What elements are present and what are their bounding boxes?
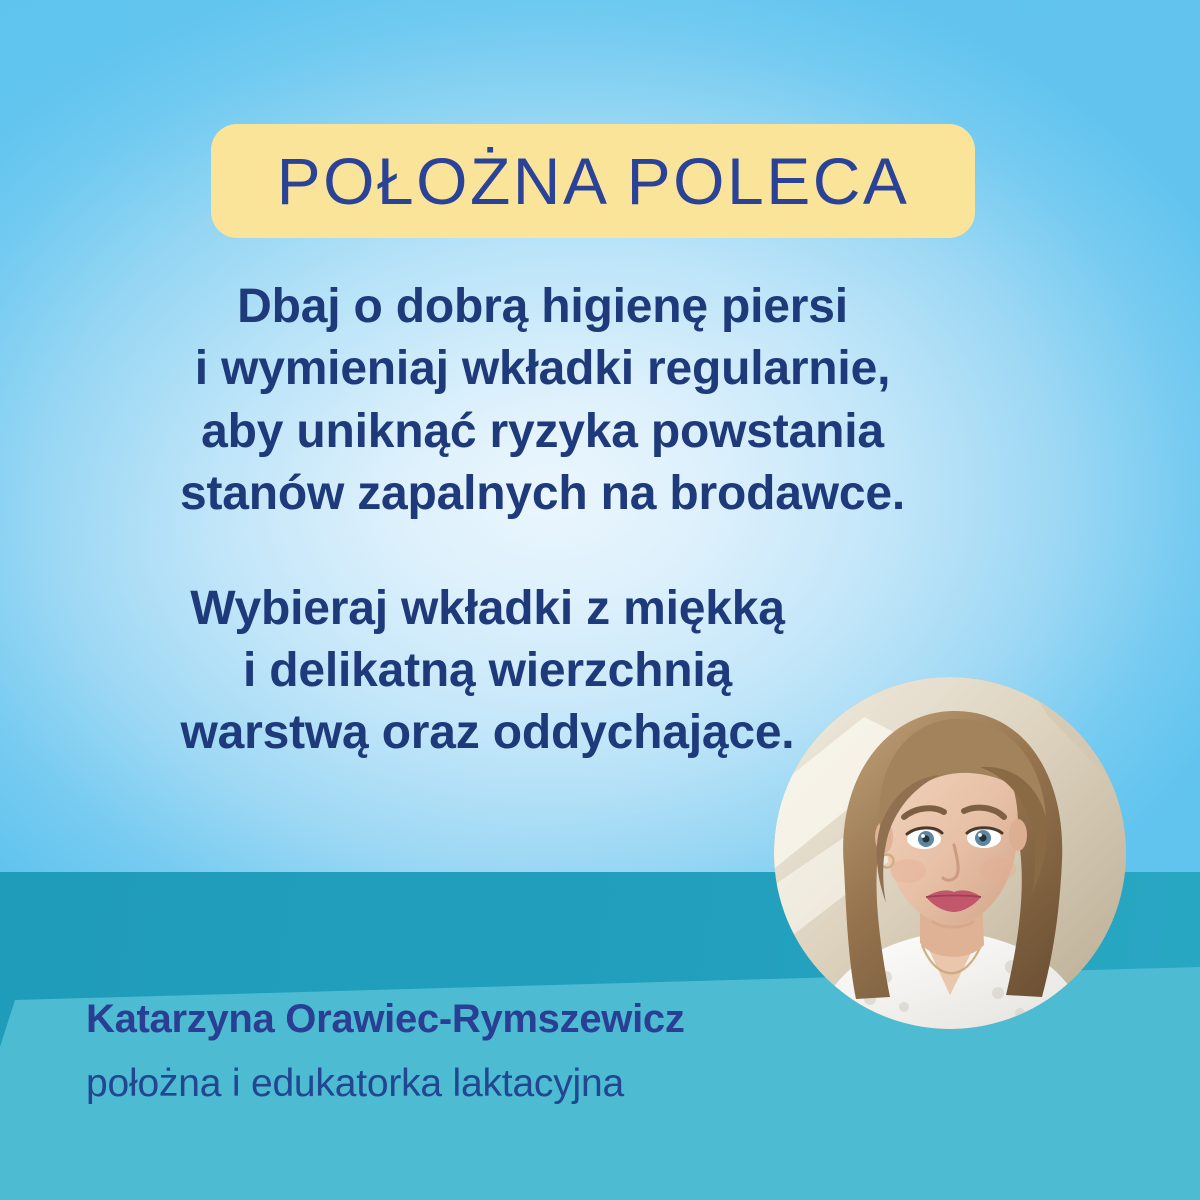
- banner-title: POŁOŻNA POLECA: [277, 148, 910, 214]
- avatar: [774, 677, 1126, 1029]
- header-banner: POŁOŻNA POLECA: [211, 124, 975, 238]
- body-paragraph-1: Dbaj o dobrą higienę piersii wymieniaj w…: [0, 276, 1085, 526]
- portrait-photo-icon: [774, 677, 1126, 1029]
- footer-author-role: położna i edukatorka laktacyjna: [86, 1062, 624, 1106]
- poster-canvas: POŁOŻNA POLECA Dbaj o dobrą higienę pier…: [0, 0, 1200, 1200]
- footer-author-name: Katarzyna Orawiec-Rymszewicz: [86, 997, 685, 1042]
